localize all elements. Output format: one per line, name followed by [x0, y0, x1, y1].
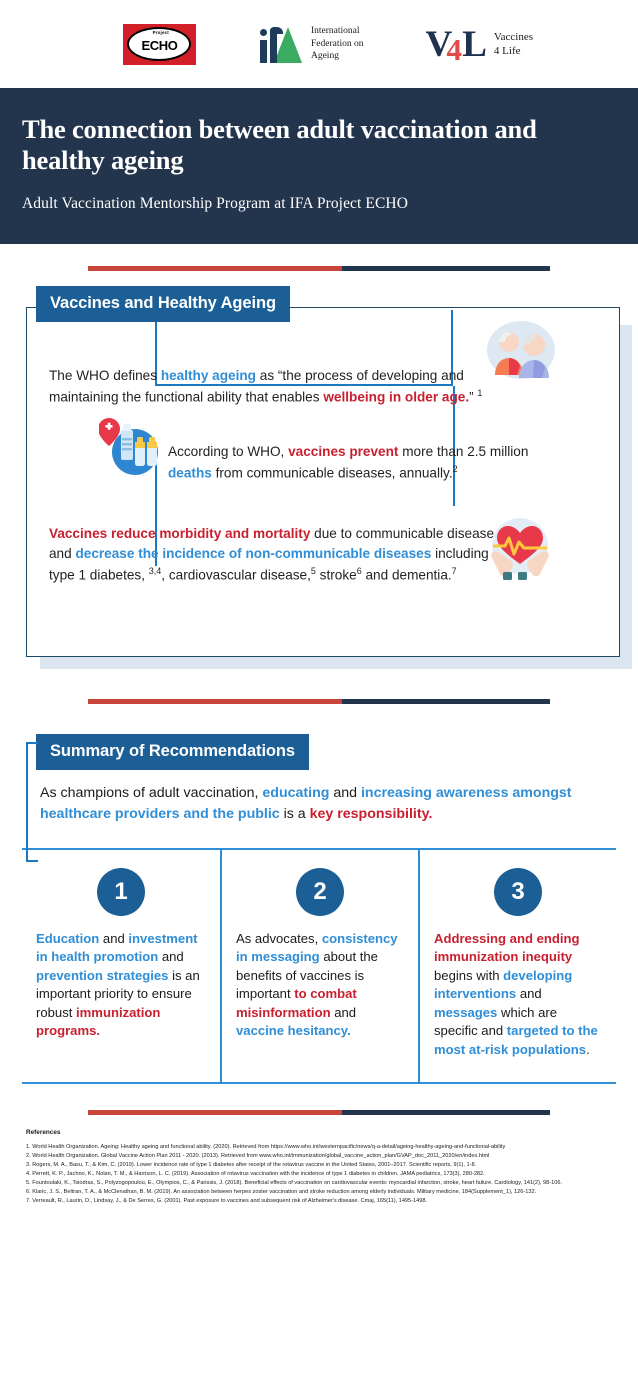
- logo-bar: Project ECHO International Federation on…: [0, 0, 638, 88]
- rule-red-segment: [88, 266, 342, 271]
- summary-bracket: [26, 742, 38, 862]
- page-subtitle: Adult Vaccination Mentorship Program at …: [22, 195, 616, 213]
- vaccines-4-life-logo: VL 4 Vaccines 4 Life: [426, 26, 534, 63]
- b1-highlight-wellbeing: wellbeing in older age.: [323, 389, 469, 404]
- morbidity-mortality-block: Vaccines reduce morbidity and mortality …: [49, 524, 498, 587]
- s2-highlight-key-responsibility: key responsibility.: [310, 806, 433, 822]
- vaccines-card: The WHO defines healthy ageing as “the p…: [26, 307, 620, 657]
- reference-item: 2. World Health Organization. Global Vac…: [26, 1152, 620, 1161]
- b3-text-4: stroke: [316, 568, 357, 583]
- divider-rule-top: [88, 266, 550, 271]
- text-run: prevention strategies: [36, 968, 168, 983]
- references-list: 1. World Health Organization. Ageing: He…: [26, 1143, 620, 1206]
- reference-item: 5. Fountoulaki, K., Tsiodras, S., Polyzo…: [26, 1179, 620, 1188]
- recommendation-number-2: 2: [296, 868, 344, 916]
- text-run: begins with: [434, 968, 503, 983]
- b2-text-2: more than 2.5 million: [398, 444, 528, 459]
- vaccines-healthy-ageing-section: The WHO defines healthy ageing as “the p…: [26, 307, 620, 657]
- ifa-logo: International Federation on Ageing: [258, 23, 364, 65]
- b1-text-1: The WHO defines: [49, 368, 161, 383]
- reference-item: 6. Klaric, J. S., Beltran, T. A., & McCl…: [26, 1188, 620, 1197]
- b3-citation-1: 3,4: [149, 566, 162, 576]
- ifa-logo-mark-icon: [258, 23, 304, 65]
- s2-text-2: and: [329, 785, 361, 801]
- v4l-line-2: 4 Life: [494, 44, 533, 58]
- section-tab-summary-recommendations: Summary of Recommendations: [36, 734, 309, 770]
- reference-item: 7. Verreault, R., Laurin, D., Lindsay, J…: [26, 1197, 620, 1206]
- b2-text-1: According to WHO,: [168, 444, 288, 459]
- recommendation-column-2: 2 As advocates, consistency in messaging…: [220, 850, 418, 1082]
- references-title: References: [26, 1128, 620, 1138]
- references-section: References 1. World Health Organization.…: [26, 1128, 620, 1207]
- text-run: As advocates,: [236, 931, 322, 946]
- rule-navy-segment: [342, 266, 550, 271]
- divider-rule-middle: [88, 699, 550, 704]
- rule-red-segment-3: [88, 1110, 342, 1115]
- text-run: and: [99, 931, 128, 946]
- v4l-logo-text: Vaccines 4 Life: [494, 30, 533, 59]
- summary-intro-text: As champions of adult vaccination, educa…: [40, 783, 608, 826]
- rule-navy-segment-2: [342, 699, 550, 704]
- echo-project-word: Project: [153, 30, 169, 35]
- heart-in-hands-icon: [485, 516, 555, 582]
- b2-text-3: from communicable diseases, annually.: [212, 465, 453, 480]
- page-title: The connection between adult vaccination…: [22, 114, 616, 175]
- header-banner: The connection between adult vaccination…: [0, 88, 638, 244]
- recommendation-text-2: As advocates, consistency in messaging a…: [236, 930, 404, 1041]
- recommendation-column-1: 1 Education and investment in health pro…: [22, 850, 220, 1082]
- echo-oval: Project ECHO: [127, 27, 191, 61]
- s2-text-1: As champions of adult vaccination,: [40, 785, 262, 801]
- older-people-icon: [485, 320, 557, 382]
- s2-text-3: is a: [280, 806, 310, 822]
- vaccine-vials-icon: [99, 416, 161, 478]
- b3-citation-4: 7: [452, 566, 457, 576]
- b3-text-3: , cardiovascular disease,: [161, 568, 311, 583]
- b3-highlight-noncommunicable: decrease the incidence of non-communicab…: [75, 546, 431, 561]
- text-run: Education: [36, 931, 99, 946]
- text-run: vaccine hesitancy.: [236, 1023, 351, 1038]
- b3-highlight-morbidity: Vaccines reduce morbidity and mortality: [49, 526, 310, 541]
- v4l-l: L: [462, 24, 486, 65]
- recommendation-number-1: 1: [97, 868, 145, 916]
- summary-recommendations-section: Summary of Recommendations As champions …: [26, 734, 620, 826]
- text-run: and: [158, 949, 183, 964]
- b2-highlight-deaths: deaths: [168, 465, 212, 480]
- text-run: Addressing and ending immunization inequ…: [434, 931, 580, 965]
- v4l-line-1: Vaccines: [494, 30, 533, 44]
- rule-red-segment-2: [88, 699, 342, 704]
- text-run: .: [586, 1042, 590, 1057]
- ifa-line-1: International: [311, 25, 364, 38]
- recommendation-text-3: Addressing and ending immunization inequ…: [434, 930, 602, 1060]
- who-deaths-prevented-block: According to WHO, vaccines prevent more …: [168, 442, 563, 484]
- b2-highlight-vaccines-prevent: vaccines prevent: [288, 444, 398, 459]
- recommendation-text-1: Education and investment in health promo…: [36, 930, 206, 1041]
- recommendation-columns: 1 Education and investment in health pro…: [22, 848, 616, 1084]
- recommendation-column-3: 3 Addressing and ending immunization ine…: [418, 850, 616, 1082]
- b1-citation: 1: [477, 388, 482, 398]
- reference-item: 3. Rogers, M. A., Basu, T., & Kim, C. (2…: [26, 1161, 620, 1170]
- text-run: and: [516, 986, 541, 1001]
- rule-navy-segment-3: [342, 1110, 550, 1115]
- ifa-line-3: Ageing: [311, 50, 364, 63]
- ifa-logo-text: International Federation on Ageing: [311, 25, 364, 63]
- who-definition-block: The WHO defines healthy ageing as “the p…: [49, 366, 493, 408]
- ifa-line-2: Federation on: [311, 38, 364, 51]
- echo-wordmark: ECHO: [142, 39, 178, 52]
- reference-item: 1. World Health Organization. Ageing: He…: [26, 1143, 620, 1152]
- recommendation-number-3: 3: [494, 868, 542, 916]
- text-run: messages: [434, 1005, 497, 1020]
- divider-rule-bottom: [88, 1110, 550, 1115]
- v4l-logo-mark-icon: VL 4: [426, 26, 486, 63]
- reference-item: 4. Perrett, K. P., Jachno, K., Nolan, T.…: [26, 1170, 620, 1179]
- b3-text-5: and dementia.: [362, 568, 452, 583]
- s2-highlight-educating: educating: [262, 785, 329, 801]
- project-echo-logo: Project ECHO: [123, 24, 196, 65]
- v4l-4: 4: [447, 34, 462, 65]
- b1-highlight-healthy-ageing: healthy ageing: [161, 368, 256, 383]
- b2-citation: 2: [453, 464, 458, 474]
- text-run: and: [331, 1005, 356, 1020]
- section-tab-vaccines-healthy-ageing: Vaccines and Healthy Ageing: [36, 286, 290, 322]
